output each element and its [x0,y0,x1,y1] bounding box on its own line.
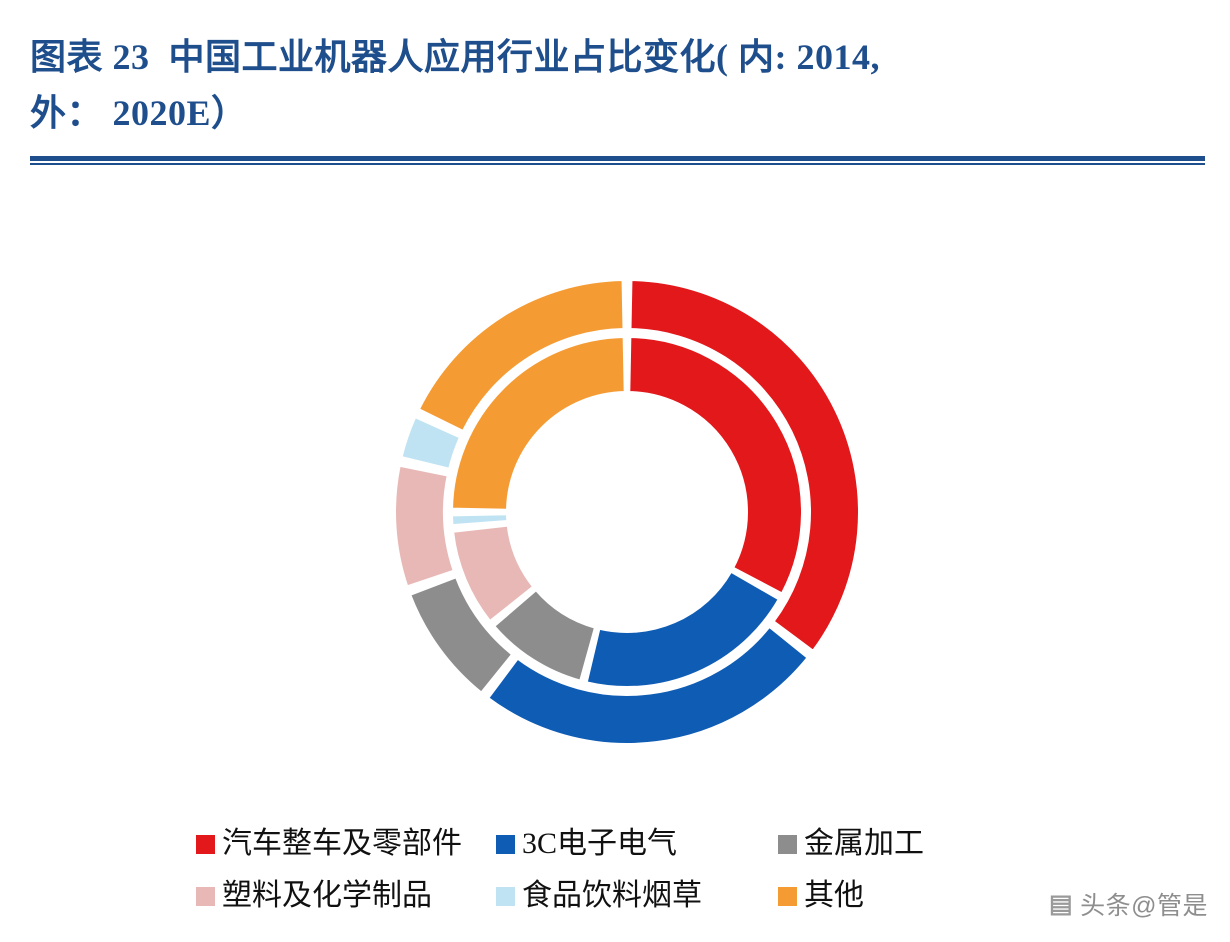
legend-item-auto[interactable]: 汽车整车及零部件 [196,829,496,859]
donut-segment-outer-3[interactable] [395,466,454,587]
chart-area [0,205,1230,805]
legend-swatch-icon [496,887,515,906]
chart-page: 图表 23 中国工业机器人应用行业占比变化( 内: 2014, 外： 2020E… [0,0,1230,942]
legend-label: 其他 [804,881,864,911]
legend-item-plastic[interactable]: 塑料及化学制品 [196,881,496,911]
legend-swatch-icon [778,835,797,854]
legend-swatch-icon [778,887,797,906]
nested-donut-chart [0,205,1230,805]
watermark-text: 头条@管是 [1080,886,1208,922]
page-title: 图表 23 中国工业机器人应用行业占比变化( 内: 2014, 外： 2020E… [30,30,1205,142]
legend-row: 塑料及化学制品食品饮料烟草其他 [196,870,996,922]
legend-label: 3C电子电气 [522,829,677,859]
legend-row: 汽车整车及零部件3C电子电气金属加工 [196,818,996,870]
legend-label: 塑料及化学制品 [222,881,432,911]
legend-label: 金属加工 [804,829,924,859]
watermark: ▤ 头条@管是 [1049,886,1208,922]
legend-swatch-icon [496,835,515,854]
title-divider-thick [30,156,1205,161]
legend-item-food[interactable]: 食品饮料烟草 [496,881,778,911]
legend-swatch-icon [196,887,215,906]
watermark-logo-icon: ▤ [1049,889,1073,919]
legend-label: 食品饮料烟草 [522,881,702,911]
donut-segment-inner-4[interactable] [452,514,507,525]
title-divider-thin [30,163,1205,165]
legend-item-3c[interactable]: 3C电子电气 [496,829,778,859]
legend-item-other[interactable]: 其他 [778,881,864,911]
legend-label: 汽车整车及零部件 [222,829,462,859]
legend-swatch-icon [196,835,215,854]
chart-legend: 汽车整车及零部件3C电子电气金属加工塑料及化学制品食品饮料烟草其他 [196,818,996,922]
title-block: 图表 23 中国工业机器人应用行业占比变化( 内: 2014, 外： 2020E… [30,30,1205,165]
legend-item-metal[interactable]: 金属加工 [778,829,924,859]
